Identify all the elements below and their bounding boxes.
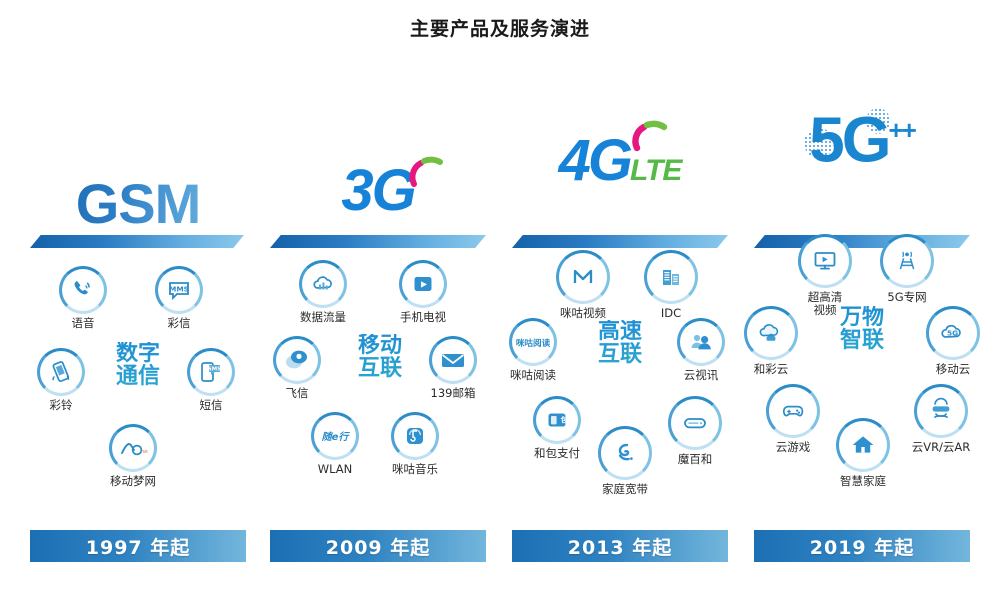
service-label: 飞信 (254, 387, 340, 400)
he-wallet-pay-icon: 包 (533, 396, 581, 444)
vr-headset-icon (914, 384, 968, 438)
service-label: 咪咕阅读 (490, 369, 576, 382)
service-label: 5G专网 (864, 291, 950, 304)
service-node-data-traffic[interactable]: 数据流量 (280, 260, 366, 324)
phone-handset-icon (59, 266, 107, 314)
plus-plus-superscript: ++ (889, 115, 915, 145)
service-cluster-gsm: 语音 MMS 彩信 (18, 256, 258, 511)
service-label: 智慧家庭 (820, 475, 906, 488)
gsm-wordmark: GSM (18, 176, 258, 232)
year-banner-3g: 2009 年起 (270, 530, 486, 562)
mobile-tv-play-icon (399, 260, 447, 308)
slant-divider-bar (270, 235, 486, 248)
service-node-cloud-vr-ar[interactable]: 云VR/云AR (898, 384, 984, 454)
page-title: 主要产品及服务演进 (0, 14, 1000, 41)
service-label: 手机电视 (380, 311, 466, 324)
svg-text:SMS: SMS (208, 366, 221, 372)
cluster-center-label-3g: 移动 互联 (320, 334, 440, 380)
svg-text:咪咕阅读: 咪咕阅读 (516, 337, 550, 349)
5g-plus-plus-logo: 5G++ (742, 94, 982, 186)
set-top-box-icon (668, 396, 722, 450)
mobile-cloud-5g-icon: 5G (926, 306, 980, 360)
service-label: 彩信 (136, 317, 222, 330)
service-label: WLAN (292, 463, 378, 476)
service-node-migu-music[interactable]: 咪咕音乐 (372, 412, 458, 476)
service-node-mo-bai-he[interactable]: 魔百和 (652, 396, 738, 466)
video-conference-icon (677, 318, 725, 366)
5g-logo-area: 5G++ (742, 60, 982, 210)
generation-column-4g: 4GLTE (500, 60, 740, 580)
service-label: 语音 (40, 317, 126, 330)
year-banner-5g: 2019 年起 (754, 530, 970, 562)
year-banner-text: 2013 年起 (568, 533, 673, 560)
year-banner-gsm: 1997 年起 (30, 530, 246, 562)
service-label: 云VR/云AR (898, 441, 984, 454)
service-node-idc[interactable]: IDC (628, 250, 714, 320)
migu-video-icon (556, 250, 610, 304)
he-cloud-drive-icon (744, 306, 798, 360)
service-node-mobile-tv[interactable]: 手机电视 (380, 260, 466, 324)
generation-column-gsm: GSM 语音 (18, 60, 258, 580)
service-label: 移动云 (910, 363, 996, 376)
svg-text:5G: 5G (947, 328, 958, 337)
service-node-monternet[interactable]: net 移动梦网 (90, 424, 176, 488)
year-banner-text: 2009 年起 (326, 533, 431, 560)
halftone-dots-decor-2 (866, 108, 890, 134)
fetion-chat-icon (273, 336, 321, 384)
signal-arcs-icon (630, 118, 676, 159)
4g-wordmark: 4G (559, 128, 630, 193)
service-node-voice[interactable]: 语音 (40, 266, 126, 330)
service-node-mms[interactable]: MMS 彩信 (136, 266, 222, 330)
svg-text:随e行: 随e行 (322, 431, 351, 443)
mms-bubble-icon: MMS (155, 266, 203, 314)
service-label: 咪咕音乐 (372, 463, 458, 476)
year-banner-text: 2019 年起 (810, 533, 915, 560)
smart-home-icon (836, 418, 890, 472)
service-label: 移动梦网 (90, 475, 176, 488)
service-label: 魔百和 (652, 453, 738, 466)
svg-text:net: net (141, 449, 148, 455)
service-label: 家庭宽带 (582, 483, 668, 496)
uhd-monitor-icon (798, 234, 852, 288)
service-label: 彩铃 (18, 399, 104, 412)
service-cluster-5g: 超高清 视频 5G专网 (742, 256, 982, 511)
4g-lte-logo: 4GLTE (500, 122, 740, 202)
signal-arcs-icon (408, 154, 452, 195)
monternet-icon: net (109, 424, 157, 472)
svg-text:MMS: MMS (169, 285, 189, 294)
generation-column-5g: 5G++ 超高清 (742, 60, 982, 580)
generation-column-3g: 3G (258, 60, 498, 580)
infographic-canvas: 主要产品及服务演进 GSM 语音 (0, 0, 1000, 591)
year-banner-4g: 2013 年起 (512, 530, 728, 562)
3g-logo: 3G (258, 148, 498, 228)
cloud-data-icon (299, 260, 347, 308)
halftone-dots-decor (804, 128, 834, 158)
service-cluster-4g: 咪咕视频 (500, 256, 740, 511)
svg-text:包: 包 (560, 416, 569, 425)
5g-private-network-tower-icon (880, 234, 934, 288)
cluster-center-label-4g: 高速 互联 (560, 320, 680, 366)
service-node-smart-home[interactable]: 智慧家庭 (820, 418, 906, 488)
cluster-center-label-gsm: 数字 通信 (78, 342, 198, 388)
service-node-migu-video[interactable]: 咪咕视频 (540, 250, 626, 320)
gsm-wordmark-area: GSM (18, 60, 258, 210)
slant-divider-bar (30, 235, 244, 248)
wlan-logo-icon: 随e行 (311, 412, 359, 460)
service-node-mobile-cloud[interactable]: 5G 移动云 (910, 306, 996, 376)
migu-music-icon (391, 412, 439, 460)
service-label: 和彩云 (728, 363, 814, 376)
slant-divider-bar (512, 235, 728, 248)
migu-reading-icon: 咪咕阅读 (509, 318, 557, 366)
service-node-wlan[interactable]: 随e行 WLAN (292, 412, 378, 476)
broadband-icon (598, 426, 652, 480)
cluster-center-label-5g: 万物 智联 (802, 306, 922, 352)
service-node-5g-private-network[interactable]: 5G专网 (864, 234, 950, 304)
service-label: 数据流量 (280, 311, 366, 324)
3g-logo-area: 3G (258, 60, 498, 210)
data-center-icon (644, 250, 698, 304)
service-label: 短信 (168, 399, 254, 412)
year-banner-text: 1997 年起 (86, 533, 191, 560)
service-cluster-3g: 数据流量 手机电视 (258, 256, 498, 511)
cloud-gaming-gamepad-icon (766, 384, 820, 438)
4g-logo-area: 4GLTE (500, 60, 740, 210)
service-label: 139邮箱 (410, 387, 496, 400)
